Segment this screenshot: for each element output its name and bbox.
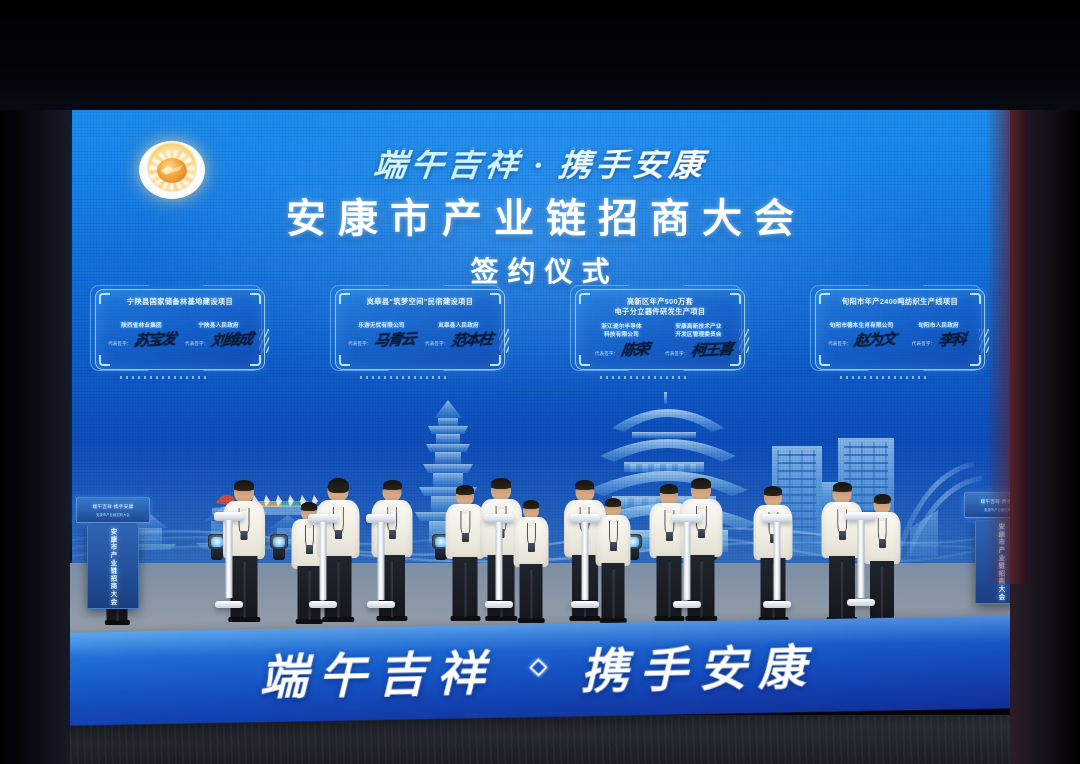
banner-text-group: 端午吉祥 携手安康 — [259, 628, 817, 708]
person-shoes — [376, 616, 407, 621]
person-hair — [383, 480, 402, 490]
person-head — [575, 480, 594, 502]
person-head — [383, 480, 402, 502]
project-title: 旬阳市年产2400吨纺织生产线项目 — [825, 297, 975, 317]
representatives-row — [0, 440, 1080, 620]
person-head — [328, 478, 349, 502]
person-hair — [764, 486, 782, 496]
pedestal-base — [673, 601, 701, 608]
pedestal-base — [847, 599, 875, 606]
party-b: 旬阳市人民政府 代表签字： 李科 — [902, 322, 975, 349]
party-a: 旬阳市德本生肖有限公司 代表签字： 赵为文 — [825, 322, 898, 349]
sign-label: 代表签字： — [348, 341, 371, 349]
party-b: 岚皋县人民政府 代表签字： 范本柱 — [422, 322, 495, 349]
pedestal-post — [226, 520, 233, 598]
party-a: 陕西省林业集团 代表签字： 苏宝发 — [105, 322, 178, 349]
person-head — [660, 484, 678, 505]
corner-bracket-icon — [99, 355, 110, 366]
pedestal-post — [858, 520, 865, 598]
pedestal-post — [684, 522, 691, 600]
person-torso — [514, 517, 549, 567]
handwritten-signature: 苏宝发 — [133, 333, 176, 350]
sign-label: 代表签字： — [185, 341, 208, 349]
event-slogan: 端午吉祥 · 携手安康 — [0, 150, 1080, 183]
person-head — [691, 478, 711, 501]
person-head — [764, 486, 782, 507]
person-hair — [874, 494, 891, 504]
signature-row: 代表签字： 范本柱 — [422, 334, 495, 349]
party-name: 旬阳市德本生肖有限公司 — [825, 322, 898, 330]
person-hair — [575, 480, 594, 490]
person-shoes — [228, 617, 260, 622]
person-badge — [879, 539, 886, 548]
party-b: 宁陕县人民政府 代表签字： 刘维成 — [182, 322, 255, 349]
person-hair — [523, 500, 539, 509]
signing-pedestal-2[interactable] — [308, 514, 338, 608]
event-subtitle: 签约仪式 — [0, 250, 1080, 290]
banner-right-text: 携手安康 — [580, 628, 818, 702]
handwritten-signature: 李科 — [937, 334, 966, 350]
project-title: 岚皋县“筑梦空间”民宿建设项目 — [345, 297, 495, 317]
signing-pedestal-6[interactable] — [672, 514, 702, 608]
project-card-2-frame: 岚皋县“筑梦空间”民宿建设项目 乐游无忧有限公司 代表签字： 马青云 岚皋县人民… — [330, 285, 510, 375]
corner-bracket-icon — [730, 293, 741, 304]
project-cards-row: 宁陕县国家储备林基地建设项目 陕西省林业集团 代表签字： 苏宝发 宁陕县人民政府… — [90, 285, 990, 375]
party-name: 旬阳市人民政府 — [902, 322, 975, 330]
person-torso — [596, 515, 631, 566]
signature-row: 代表签字： 马青云 — [345, 334, 418, 349]
project-title: 宁陕县国家储备林基地建设项目 — [105, 297, 255, 317]
handwritten-signature: 柯王喜 — [690, 343, 733, 360]
person-hair — [660, 484, 678, 494]
podium-vertical-text: 安康市产业链招商大会 — [109, 528, 118, 606]
person-hair — [833, 482, 852, 492]
project-card-1-frame: 宁陕县国家储备林基地建设项目 陕西省林业集团 代表签字： 苏宝发 宁陕县人民政府… — [90, 285, 270, 375]
sign-label: 代表签字： — [665, 351, 688, 359]
person-head — [874, 494, 891, 514]
pedestal-base — [367, 601, 395, 608]
signature-row: 代表签字： 赵为文 — [825, 334, 898, 349]
corner-bracket-icon — [819, 293, 830, 304]
signing-parties: 旬阳市德本生肖有限公司 代表签字： 赵为文 旬阳市人民政府 代表签字： 李科 — [825, 322, 975, 349]
project-title-line1: 高新区年产500万套 — [627, 297, 693, 306]
pedestal-base — [485, 601, 513, 608]
party-b: 安康高新技术产业 开发区管理委员会 代表签字： 柯王喜 — [662, 323, 735, 359]
project-card-3[interactable]: 高新区年产500万套 电子分立器件研发生产项目 浙江速尔半导体 科技有限公司 代… — [575, 289, 745, 370]
diamond-icon — [529, 658, 547, 676]
person-head — [833, 482, 852, 504]
person-legs — [520, 564, 543, 619]
corner-bracket-icon — [99, 293, 110, 304]
project-title: 高新区年产500万套 电子分立器件研发生产项目 — [585, 297, 735, 318]
person-hair — [691, 478, 711, 489]
project-title-line2: 电子分立器件研发生产项目 — [614, 307, 705, 316]
party-a: 浙江速尔半导体 科技有限公司 代表签字： 陈荣 — [585, 323, 658, 359]
project-card-2[interactable]: 岚皋县“筑梦空间”民宿建设项目 乐游无忧有限公司 代表签字： 马青云 岚皋县人民… — [335, 289, 505, 370]
venue-ceiling — [0, 0, 1080, 110]
person-shoes — [450, 616, 480, 621]
project-card-1[interactable]: 宁陕县国家储备林基地建设项目 陕西省林业集团 代表签字： 苏宝发 宁陕县人民政府… — [95, 289, 265, 370]
party-name: 浙江速尔半导体 科技有限公司 — [585, 323, 658, 340]
signature-row: 代表签字： 柯王喜 — [662, 344, 735, 359]
signing-pedestal-3[interactable] — [366, 514, 396, 608]
pedestal-post — [774, 522, 781, 600]
corner-bracket-icon — [490, 293, 501, 304]
corner-bracket-icon — [250, 293, 261, 304]
signature-row: 代表签字： 陈荣 — [585, 344, 658, 359]
person-head — [456, 485, 474, 506]
handwritten-signature: 刘维成 — [210, 333, 253, 350]
corner-bracket-icon — [579, 293, 590, 304]
pedestal-base — [215, 601, 243, 608]
person-hair — [605, 498, 621, 507]
signing-pedestal-4[interactable] — [484, 514, 514, 608]
headline-block: 端午吉祥 · 携手安康 安康市产业链招商大会 签约仪式 — [0, 150, 1080, 290]
project-card-4[interactable]: 旬阳市年产2400吨纺织生产线项目 旬阳市德本生肖有限公司 代表签字： 赵为文 … — [815, 289, 985, 370]
handwritten-signature: 陈荣 — [620, 343, 649, 359]
person-legs — [602, 563, 625, 619]
card-dot-tape-icon — [120, 376, 206, 379]
party-a: 乐游无忧有限公司 代表签字： 马青云 — [345, 322, 418, 349]
podium-left-header: 端午吉祥·携手安康 安康市产业链招商大会 — [76, 497, 150, 523]
signing-pedestal-1[interactable] — [214, 512, 244, 608]
podium-left: 端午吉祥·携手安康 安康市产业链招商大会 安康市产业链招商大会 — [76, 497, 150, 609]
corner-bracket-icon — [730, 355, 741, 366]
person-legs — [453, 557, 478, 617]
podium-left-body: 安康市产业链招商大会 — [87, 525, 139, 609]
corner-bracket-icon — [579, 355, 590, 366]
stage-scene: 端午吉祥 · 携手安康 安康市产业链招商大会 签约仪式 宁陕县国家储备林基地建设… — [0, 0, 1080, 764]
handwritten-signature: 范本柱 — [450, 333, 493, 350]
pedestal-base — [571, 601, 599, 608]
signing-pedestal-7[interactable] — [762, 514, 792, 608]
person-shoes — [104, 620, 129, 625]
sign-label: 代表签字： — [912, 341, 935, 349]
signature-row: 代表签字： 刘维成 — [182, 334, 255, 349]
banner-left-text: 端午吉祥 — [259, 633, 496, 707]
sign-label: 代表签字： — [425, 341, 448, 349]
signing-parties: 陕西省林业集团 代表签字： 苏宝发 宁陕县人民政府 代表签字： 刘维成 — [105, 322, 255, 349]
handwritten-signature: 赵为文 — [853, 333, 896, 350]
signing-pedestal-8[interactable] — [846, 512, 876, 606]
person-hair — [491, 478, 511, 489]
corner-bracket-icon — [490, 355, 501, 366]
venue-wall-left — [0, 0, 70, 764]
handwritten-signature: 马青云 — [373, 333, 416, 350]
corner-bracket-icon — [339, 293, 350, 304]
sign-label: 代表签字： — [108, 341, 131, 349]
signing-parties: 浙江速尔半导体 科技有限公司 代表签字： 陈荣 安康高新技术产业 开发区管理委员… — [585, 323, 735, 359]
person-hair — [456, 485, 474, 495]
person-badge — [839, 531, 846, 540]
pedestal-post — [582, 522, 589, 600]
corner-bracket-icon — [819, 355, 830, 366]
sign-label: 代表签字： — [828, 341, 851, 349]
person-head — [234, 480, 254, 503]
pedestal-base — [309, 601, 337, 608]
person-badge — [610, 542, 617, 551]
person-badge — [462, 533, 469, 542]
pedestal-post — [378, 522, 385, 600]
corner-bracket-icon — [970, 355, 981, 366]
party-name: 宁陕县人民政府 — [182, 322, 255, 330]
person-shoes — [322, 617, 354, 622]
event-title: 安康市产业链招商大会 — [0, 197, 1080, 242]
pedestal-post — [320, 522, 327, 600]
signature-row: 代表签字： 苏宝发 — [105, 334, 178, 349]
signing-parties: 乐游无忧有限公司 代表签字： 马青云 岚皋县人民政府 代表签字： 范本柱 — [345, 322, 495, 349]
signature-row: 代表签字： 李科 — [902, 334, 975, 349]
podium-event-name: 安康市产业链招商大会 — [96, 512, 130, 517]
card-dot-tape-icon — [840, 376, 926, 379]
party-name: 岚皋县人民政府 — [422, 322, 495, 330]
project-card-4-frame: 旬阳市年产2400吨纺织生产线项目 旬阳市德本生肖有限公司 代表签字： 赵为文 … — [810, 285, 990, 375]
person-head — [491, 478, 511, 501]
front-stage-banner: 端午吉祥 携手安康 — [57, 615, 1020, 725]
party-name: 陕西省林业集团 — [105, 322, 178, 330]
pedestal-base — [763, 601, 791, 608]
person-8 — [512, 500, 550, 620]
corner-bracket-icon — [970, 293, 981, 304]
pedestal-post — [496, 522, 503, 600]
project-card-3-frame: 高新区年产500万套 电子分立器件研发生产项目 浙江速尔半导体 科技有限公司 代… — [570, 285, 750, 375]
person-shoes — [517, 618, 545, 623]
person-badge — [528, 543, 535, 552]
card-dot-tape-icon — [600, 376, 686, 379]
party-name: 乐游无忧有限公司 — [345, 322, 418, 330]
person-hair — [328, 478, 349, 493]
corner-bracket-icon — [339, 355, 350, 366]
signing-pedestal-5[interactable] — [570, 514, 600, 608]
podium-slogan: 端午吉祥·携手安康 — [93, 504, 134, 510]
card-dot-tape-icon — [360, 376, 446, 379]
sign-label: 代表签字： — [595, 351, 618, 359]
person-hair — [234, 480, 254, 491]
corner-bracket-icon — [250, 355, 261, 366]
party-name: 安康高新技术产业 开发区管理委员会 — [662, 323, 735, 340]
